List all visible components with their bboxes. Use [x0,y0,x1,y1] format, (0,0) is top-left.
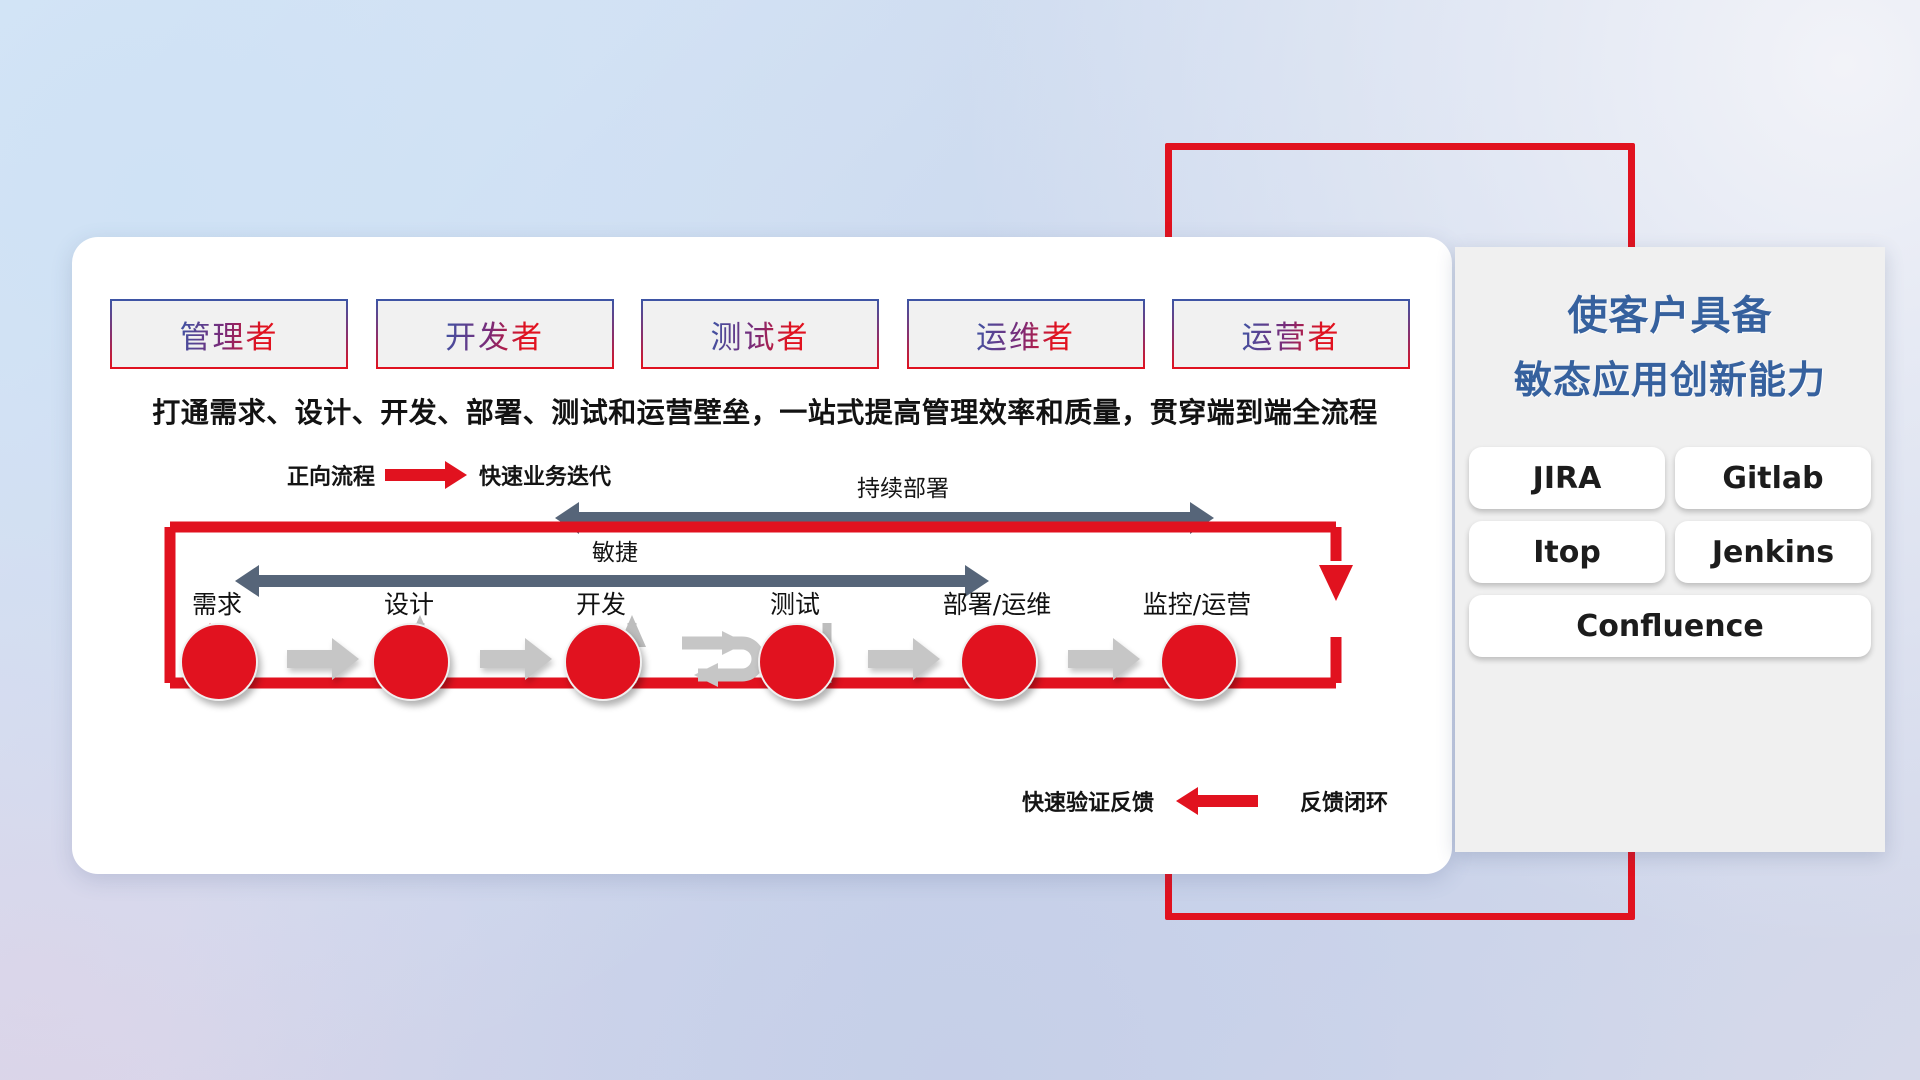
tool-chip-jenkins[interactable]: Jenkins [1675,521,1871,583]
feedback-loop-legend: 快速验证反馈 反馈闭环 [1022,785,1388,817]
stage-label-deploy-ops: 部署/运维 [907,585,1087,621]
forward-flow-legend: 正向流程 快速业务迭代 [287,459,611,491]
main-diagram-card: 管理者 开发者 测试者 运维者 运营者 打通需求、设计、开发、部署、测试和运营壁… [72,237,1452,874]
role-label: 管理者 [180,312,279,357]
role-box-operations[interactable]: 运营者 [1172,299,1410,369]
tool-chip-gitlab[interactable]: Gitlab [1675,447,1871,509]
arrow-left-red-icon [1196,795,1258,807]
forward-flow-left-label: 正向流程 [287,459,375,491]
stage-node-deploy-ops[interactable] [960,623,1038,701]
tool-chip-jira[interactable]: JIRA [1469,447,1665,509]
flow-arrow-1-icon [287,650,333,668]
role-label: 运营者 [1242,312,1341,357]
stage-node-monitor-operations[interactable] [1160,623,1238,701]
tool-chip-confluence[interactable]: Confluence [1469,595,1871,657]
feedback-right-label: 反馈闭环 [1300,785,1388,817]
stage-label-requirement: 需求 [172,585,262,621]
stage-label-design: 设计 [364,585,454,621]
tool-chip-itop[interactable]: Itop [1469,521,1665,583]
agile-label: 敏捷 [592,533,638,567]
stage-label-test: 测试 [750,585,840,621]
flow-arrow-4-icon [1068,650,1114,668]
stage-node-design[interactable] [372,623,450,701]
feedback-left-label: 快速验证反馈 [1022,785,1154,817]
stage-node-test[interactable] [758,623,836,701]
continuous-deploy-label: 持续部署 [857,469,949,503]
forward-flow-right-label: 快速业务迭代 [479,459,611,491]
flow-arrow-3-icon [868,650,914,668]
role-label: 运维者 [976,312,1075,357]
side-panel: 使客户具备 敏态应用创新能力 JIRA Gitlab Itop Jenkins … [1455,247,1885,852]
role-box-manager[interactable]: 管理者 [110,299,348,369]
role-box-row: 管理者 开发者 测试者 运维者 运营者 [110,299,1410,369]
side-panel-title-line1: 使客户具备 [1455,289,1885,343]
stage-label-monitor-operations: 监控/运营 [1097,585,1297,621]
pipeline-row: 需求 设计 开发 测试 部署/运维 监控/运营 [112,597,1412,727]
tool-chip-grid: JIRA Gitlab Itop Jenkins Confluence [1469,447,1871,657]
role-box-developer[interactable]: 开发者 [376,299,614,369]
stage-label-develop: 开发 [556,585,646,621]
stage-node-requirement[interactable] [180,623,258,701]
stage-node-develop[interactable] [564,623,642,701]
role-box-ops[interactable]: 运维者 [907,299,1145,369]
side-panel-title-line2: 敏态应用创新能力 [1455,355,1885,406]
continuous-deploy-arrow-icon [577,512,1192,524]
description-text: 打通需求、设计、开发、部署、测试和运营壁垒，一站式提高管理效率和质量，贯穿端到端… [120,391,1410,431]
role-label: 测试者 [711,312,810,357]
arrow-right-red-icon [385,469,447,481]
flow-arrow-2-icon [480,650,526,668]
role-box-tester[interactable]: 测试者 [641,299,879,369]
role-label: 开发者 [445,312,544,357]
